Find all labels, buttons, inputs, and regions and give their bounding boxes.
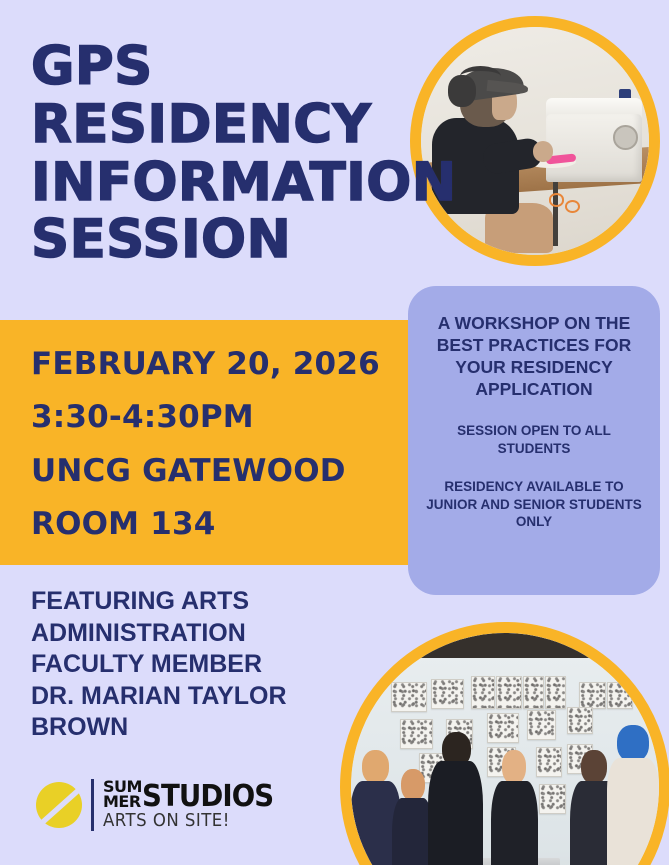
workshop-headline: A WORKSHOP ON THE BEST PRACTICES FOR YOU… (426, 312, 642, 400)
residency-eligibility-note: RESIDENCY AVAILABLE TO JUNIOR AND SENIOR… (426, 478, 642, 531)
logo-tagline: ARTS ON SITE! (103, 812, 270, 830)
scissors-handle (549, 193, 564, 206)
visitor-head (362, 750, 390, 784)
visitor-torso (607, 758, 659, 865)
visitor-head (502, 750, 526, 784)
featuring-speaker: FEATURING ARTS ADMINISTRATION FACULTY ME… (31, 586, 341, 744)
title-line-2: RESIDENCY (31, 96, 461, 154)
logo-word-studios: STUDIOS (142, 784, 273, 810)
wall-artwork (527, 710, 557, 740)
logo-wordmark-row: SUM MER STUDIOS (103, 780, 285, 810)
event-date: FEBRUARY 20, 2026 (31, 338, 431, 391)
logo-word-mer: MER (103, 795, 142, 810)
gallery-visitor (490, 750, 539, 865)
wall-artwork (391, 682, 427, 712)
event-time: 3:30-4:30PM (31, 391, 431, 444)
gallery-visitor (607, 725, 659, 865)
gallery-group-photo-inner (351, 633, 659, 865)
visitor-head-blue-hair (617, 725, 648, 762)
logo-wordmark: SUM MER STUDIOS ARTS ON SITE! (103, 780, 285, 831)
sewing-machine-wheel (613, 125, 638, 150)
logo-divider (91, 779, 94, 831)
featuring-line-2: ADMINISTRATION (31, 618, 341, 650)
title-line-3: INFORMATION (31, 154, 461, 212)
wall-artwork (487, 713, 520, 743)
wall-artwork (567, 707, 594, 734)
event-room: ROOM 134 (31, 498, 431, 551)
poster-title: GPS RESIDENCY INFORMATION SESSION (31, 38, 461, 269)
featuring-line-3: FACULTY MEMBER (31, 649, 341, 681)
wall-artwork (496, 676, 523, 709)
featuring-line-1: FEATURING ARTS (31, 586, 341, 618)
wall-artwork (607, 682, 634, 709)
wall-artwork (545, 676, 565, 709)
speaker-name-line-1: DR. MARIAN TAYLOR (31, 681, 341, 713)
workshop-info-card: A WORKSHOP ON THE BEST PRACTICES FOR YOU… (408, 286, 660, 595)
table-leg (553, 177, 558, 245)
speaker-name-line-2: BROWN (31, 712, 341, 744)
event-details: FEBRUARY 20, 2026 3:30-4:30PM UNCG GATEW… (31, 338, 431, 551)
wall-artwork (579, 682, 606, 709)
visitor-torso (428, 761, 483, 865)
person-hand (533, 141, 554, 162)
visitor-head (401, 769, 425, 802)
wall-artwork (536, 747, 563, 777)
title-line-1: GPS (31, 38, 461, 96)
gallery-visitor (428, 732, 483, 865)
gallery-ceiling-beam (351, 633, 659, 658)
title-line-4: SESSION (31, 211, 461, 269)
session-open-note: SESSION OPEN TO ALL STUDENTS (426, 422, 642, 458)
gallery-group-photo (340, 622, 669, 865)
wall-artwork (431, 679, 464, 709)
logo-summer-stack: SUM MER (103, 780, 142, 810)
summer-studios-s-mark-icon (36, 778, 82, 832)
visitor-head (581, 750, 607, 784)
summer-studios-logo: SUM MER STUDIOS ARTS ON SITE! (36, 778, 285, 832)
wall-artwork (471, 676, 495, 709)
event-venue: UNCG GATEWOOD (31, 445, 431, 498)
wall-artwork (539, 784, 566, 814)
visitor-torso (491, 781, 538, 865)
poster: GPS RESIDENCY INFORMATION SESSION FEBRUA… (0, 0, 669, 865)
wall-artwork (523, 676, 543, 709)
